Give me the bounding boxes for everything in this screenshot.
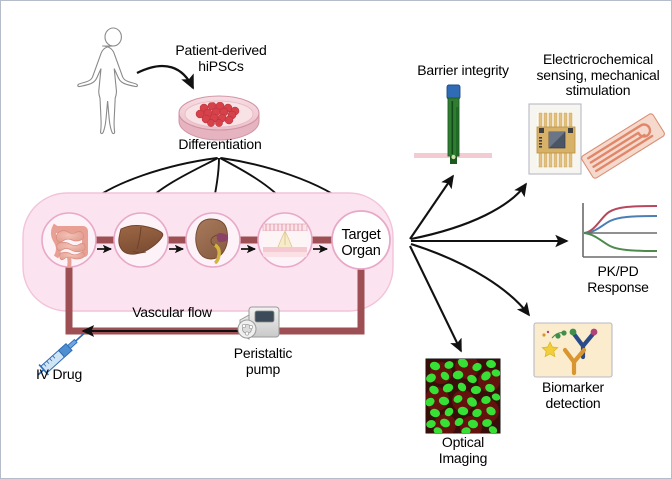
- optical-imaging-icon: [424, 355, 501, 438]
- skin-barrier-icon: [263, 224, 307, 257]
- barrier-integrity-icon: [414, 85, 492, 164]
- vascular-flow-label: Vascular flow: [117, 305, 227, 321]
- biomarker-detection-label: Biomarker detection: [527, 380, 619, 411]
- pkpd-response-label: PK/PD Response: [575, 264, 661, 295]
- iv-drug-label: IV Drug: [14, 367, 104, 383]
- petri-dish-icon: [179, 96, 259, 140]
- peristaltic-pump-label: Peristaltic pump: [209, 346, 317, 377]
- figure-canvas: Patient-derived hiPSCs Differentiation T…: [0, 0, 672, 479]
- mechanical-stimulation-coil-icon: [580, 113, 665, 180]
- electrochemical-chip-icon: [529, 104, 581, 174]
- target-organ-label: Target Organ: [331, 227, 391, 259]
- barrier-integrity-label: Barrier integrity: [405, 63, 521, 79]
- human-silhouette-icon: [78, 28, 138, 134]
- pkpd-chart: [575, 199, 659, 265]
- hipsc-label: Patient-derived hiPSCs: [161, 43, 281, 74]
- biomarker-detection-icon: [534, 323, 612, 377]
- differentiation-label: Differentiation: [159, 137, 281, 153]
- peristaltic-pump-icon: [238, 307, 279, 339]
- electrochemical-sensing-label: Electricrochemical sensing, mechanical s…: [525, 52, 671, 99]
- optical-imaging-label: Optical Imaging: [419, 435, 507, 466]
